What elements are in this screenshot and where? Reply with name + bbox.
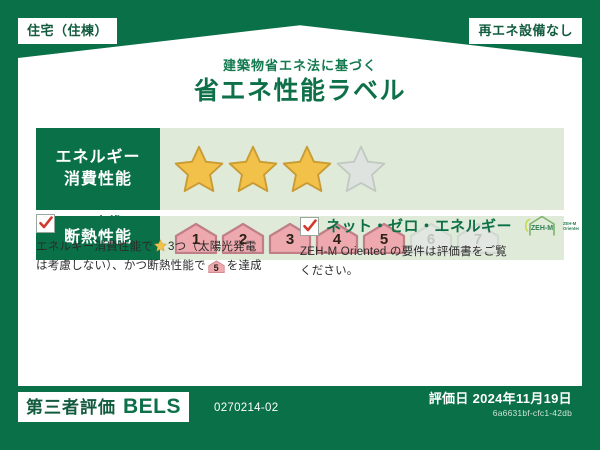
evaluation-date: 評価日 2024年11月19日: [429, 391, 572, 408]
svg-text:Oriented: Oriented: [563, 226, 579, 231]
certificate-number: 0270214-02: [214, 402, 278, 414]
tag-renewable-equipment: 再エネ設備なし: [469, 18, 582, 44]
inline-insulation-badge-value: 5: [208, 260, 225, 275]
check-net-zero-energy-title: ネット・ゼロ・エネルギー: [326, 219, 512, 234]
star-rating: [174, 144, 386, 194]
page-title: 省エネ性能ラベル: [18, 77, 582, 106]
energy-performance-row: エネルギー消費性能: [36, 128, 564, 210]
label-card: 住宅（住棟） 再エネ設備なし 建築物省エネ法に基づく 省エネ性能ラベル エネルギ…: [18, 18, 582, 432]
nze-body-line2: ください。: [300, 265, 359, 277]
svg-text:ZEH-M: ZEH-M: [531, 225, 553, 232]
check-zeh-standard: ZEH水準 エネルギー消費性能で 3つ（太陽光発電 は考慮しない）、かつ断熱性能…: [36, 214, 300, 281]
star-empty-icon: [336, 144, 386, 194]
footer-right-block: 評価日 2024年11月19日 6a6631bf-cfc1-42db: [429, 391, 572, 420]
zeh-body-line2-pre: は考慮しない）、かつ断熱性能で: [36, 260, 206, 272]
check-zeh-standard-title: ZEH水準: [62, 216, 125, 231]
energy-performance-label-box: エネルギー消費性能: [36, 128, 160, 210]
checkbox-zeh-standard[interactable]: [36, 214, 55, 233]
bels-label-jp: 第三者評価: [26, 399, 116, 416]
energy-performance-label: 住宅（住棟） 再エネ設備なし 建築物省エネ法に基づく 省エネ性能ラベル エネルギ…: [0, 0, 600, 450]
certification-checks: ZEH水準 エネルギー消費性能で 3つ（太陽光発電 は考慮しない）、かつ断熱性能…: [36, 214, 564, 281]
energy-performance-label-text: エネルギー消費性能: [55, 147, 140, 190]
bels-label-en: BELS: [123, 396, 181, 417]
evaluation-date-label: 評価日: [429, 391, 469, 406]
star-filled-icon: [174, 144, 224, 194]
evaluation-date-value: 2024年11月19日: [473, 391, 572, 406]
title-subtitle: 建築物省エネ法に基づく: [18, 58, 582, 74]
check-zeh-standard-body: エネルギー消費性能で 3つ（太陽光発電 は考慮しない）、かつ断熱性能で 5 を達…: [36, 238, 290, 276]
energy-performance-panel: [160, 128, 564, 210]
star-filled-icon: [282, 144, 332, 194]
star-filled-icon: [228, 144, 278, 194]
title-block: 建築物省エネ法に基づく 省エネ性能ラベル: [18, 58, 582, 105]
footer-band: 第三者評価 BELS 0270214-02 評価日 2024年11月19日 6a…: [18, 386, 582, 432]
zeh-body-line1-pre: エネルギー消費性能で: [36, 241, 153, 253]
zeh-body-line2-post: を達成: [227, 260, 262, 272]
checkbox-net-zero-energy[interactable]: [300, 217, 319, 236]
zeh-m-logo-icon: ZEH-M ZEH-M Oriented: [523, 214, 579, 238]
check-zeh-standard-header: ZEH水準: [36, 214, 290, 233]
inline-insulation-badge: 5: [208, 260, 225, 273]
inline-star-icon: [154, 239, 167, 252]
document-uuid: 6a6631bf-cfc1-42db: [429, 408, 572, 420]
bels-evaluation-chip: 第三者評価 BELS: [18, 392, 189, 422]
tag-building-type: 住宅（住棟）: [18, 18, 117, 44]
